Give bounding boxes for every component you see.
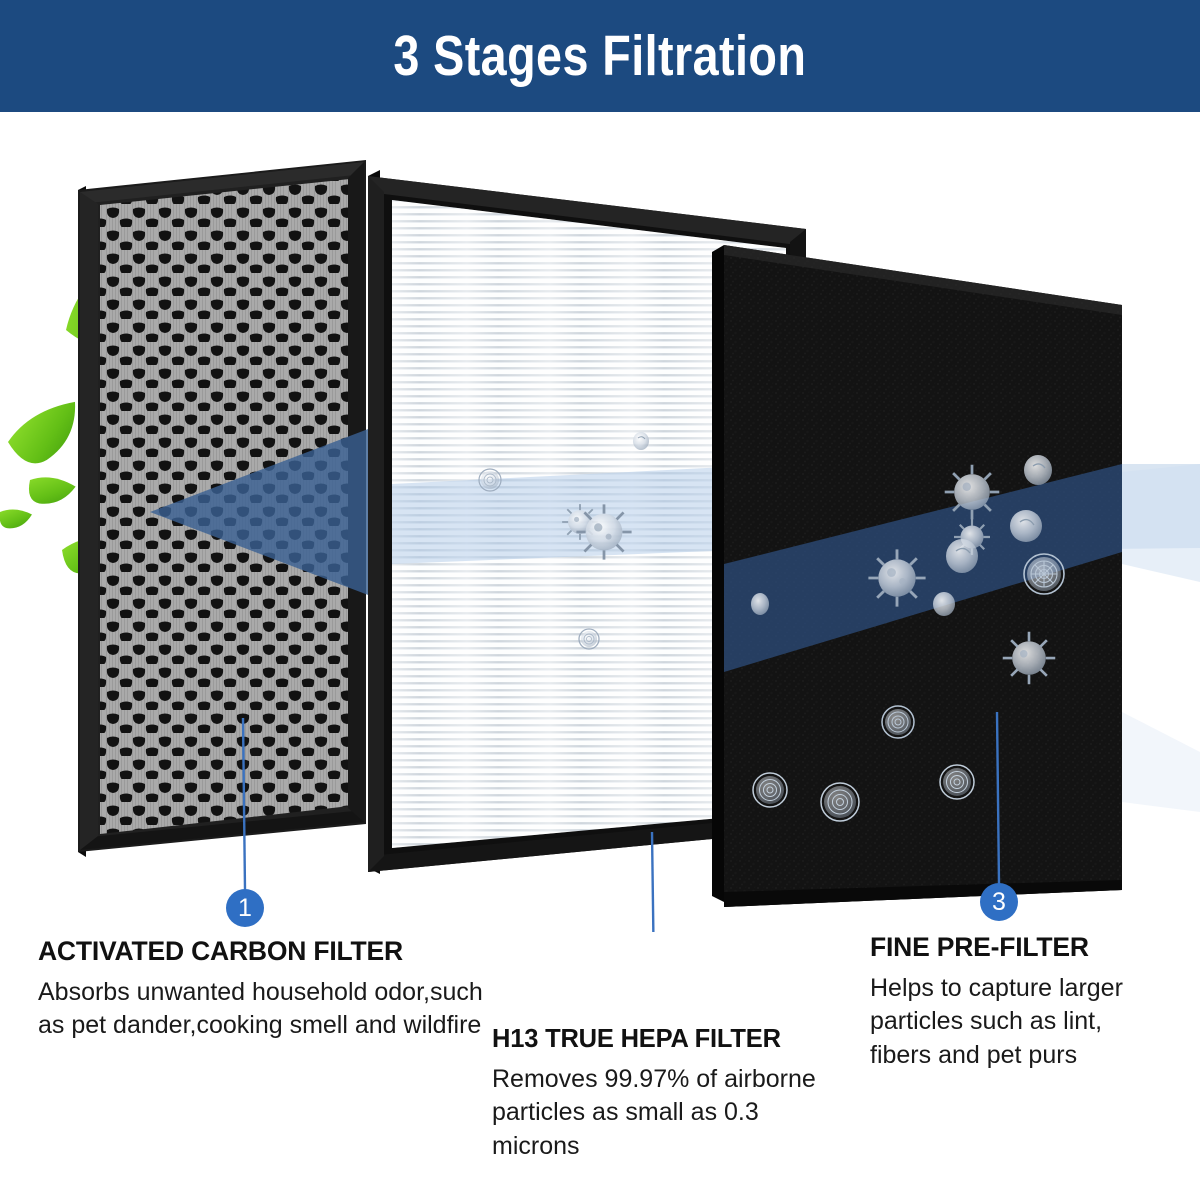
header-banner: 3 Stages Filtration	[0, 0, 1200, 112]
caption-fine-pre-filter: FINE PRE-FILTER Helps to capture larger …	[870, 932, 1170, 1072]
caption-3-body: Helps to capture larger particles such a…	[870, 972, 1170, 1072]
caption-h13-true-hepa-filter: H13 TRUE HEPA FILTER Removes 99.97% of a…	[492, 1025, 847, 1163]
marker-3-prefilter[interactable]: 3	[980, 883, 1018, 921]
infographic-page: 3 Stages Filtration	[0, 0, 1200, 1200]
caption-3-title: FINE PRE-FILTER	[870, 932, 1170, 963]
caption-1-body: Absorbs unwanted household odor,such as …	[38, 976, 488, 1043]
page-title: 3 Stages Filtration	[394, 23, 807, 89]
leader-line-2	[652, 832, 654, 932]
marker-1-label: 1	[238, 894, 252, 922]
filter-artwork-stage: 1 2 3	[0, 112, 1200, 932]
caption-2-body: Removes 99.97% of airborne particles as …	[492, 1063, 847, 1163]
caption-1-title: ACTIVATED CARBON FILTER	[38, 936, 488, 967]
caption-activated-carbon-filter: ACTIVATED CARBON FILTER Absorbs unwanted…	[38, 936, 488, 1043]
caption-2-title: H13 TRUE HEPA FILTER	[492, 1025, 847, 1054]
fine-pre-filter-panel	[712, 245, 1122, 907]
marker-1-carbon[interactable]: 1	[226, 889, 264, 927]
marker-3-label: 3	[992, 888, 1006, 916]
